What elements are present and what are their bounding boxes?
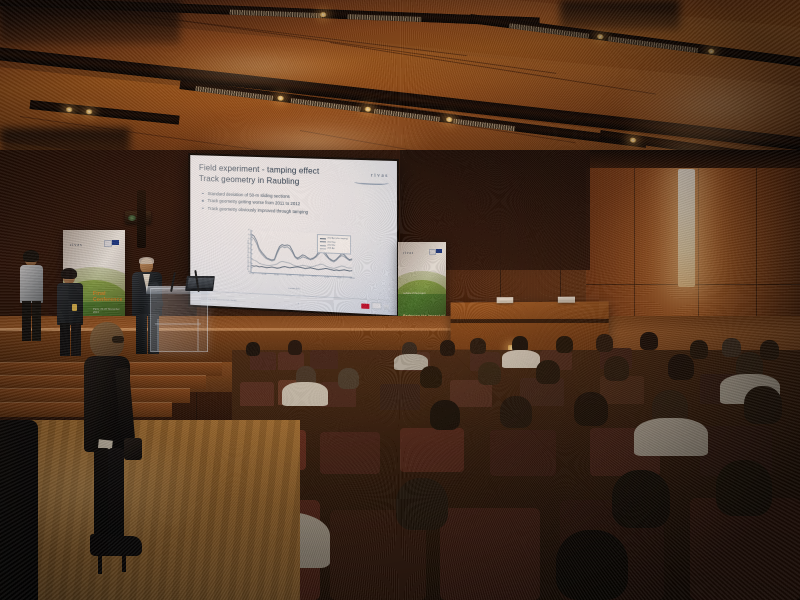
chart-y-tick: 2.5 [248, 248, 252, 250]
legend-swatch [320, 248, 326, 249]
chart-x-tick: 52.50 [287, 274, 292, 278]
chart-y-tick: 3.0 [248, 243, 252, 245]
legend-label: 2012 Mar [327, 245, 335, 247]
boot-right [108, 536, 142, 556]
rivas-logo: rivas [354, 172, 389, 185]
rivas-logo-swoosh [354, 179, 389, 185]
handbag [124, 438, 142, 460]
chart-x-tick: 52.90 [337, 276, 342, 280]
partner-logo [371, 302, 381, 310]
auditorium-photo: Field experiment - tamping effect Track … [0, 0, 800, 600]
wall-light-slot [678, 169, 695, 287]
chart-y-tick: 0.5 [248, 266, 252, 268]
legend-swatch [320, 238, 326, 239]
name-badge [72, 304, 77, 311]
legend-label: 2012 Sep [327, 241, 335, 243]
chart-x-tick: 53.00 [350, 277, 355, 281]
chart-y-tick: 3.5 [248, 239, 252, 241]
heel-left [98, 554, 102, 574]
name-card [558, 297, 575, 303]
slide-page-number: 9 [236, 300, 361, 308]
eu-logo [384, 305, 389, 310]
chart-y-tick: 4.0 [248, 234, 252, 236]
presenter-laptop [185, 276, 215, 291]
chart-x-tick: 52.70 [312, 275, 317, 279]
legend-item: 2011 Apr [320, 247, 348, 252]
chart-y-tick: 2.0 [248, 252, 252, 254]
chart-y-tick: 4.5 [248, 229, 252, 231]
foreground-person-left-edge [0, 420, 40, 600]
standing-person-left-1 [18, 252, 46, 342]
legend-label: 2011 Apr [327, 248, 334, 250]
slide-bullet-list: Standard deviation of 50-m sliding secti… [201, 190, 388, 219]
wall-ceiling-junction [586, 150, 800, 168]
ceiling [0, 0, 800, 168]
slide-footer: Joseph Fung, DB Systemtechnik GmbH 9 [199, 290, 389, 310]
legend-swatch [320, 245, 326, 246]
presenter-hair [139, 257, 154, 264]
chart-plot-area: 2012 Apr (after tamping)2012 Sep2012 Mar… [251, 230, 353, 277]
rivas-logo-text: rivas [354, 172, 389, 179]
projection-screen: Field experiment - tamping effect Track … [190, 155, 397, 315]
projection-screen-frame: Field experiment - tamping effect Track … [188, 153, 399, 318]
name-card [497, 297, 514, 303]
chart-y-tick: 1.5 [248, 257, 252, 259]
chart-x-axis-label: Location [km] [288, 287, 299, 290]
slide-chart: SD Deviation of 50-m sections [mm] 2012 … [235, 228, 354, 287]
chart-x-tick: 52.40 [274, 273, 279, 277]
lectern [150, 288, 208, 352]
heel-right [122, 554, 126, 572]
chart-y-tick: 1.0 [248, 262, 252, 264]
wall-speaker-column [137, 190, 146, 248]
presentation-slide: Field experiment - tamping effect Track … [190, 155, 397, 315]
chart-x-tick: 52.60 [299, 274, 304, 278]
chart-x-tick: 52.30 [262, 273, 267, 277]
chart-x-tick: 52.20 [249, 272, 254, 276]
chart-x-tick: 52.80 [324, 276, 329, 280]
legend-swatch [320, 241, 326, 242]
db-logo [361, 303, 369, 308]
chart-legend: 2012 Apr (after tamping)2012 Sep2012 Mar… [317, 234, 352, 254]
